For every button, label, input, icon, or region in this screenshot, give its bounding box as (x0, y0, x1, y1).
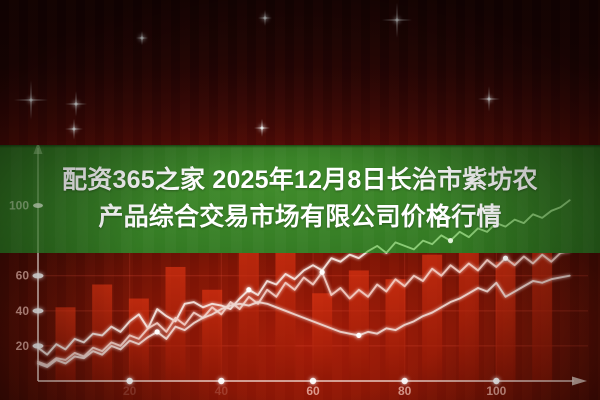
y-tick-label: 40 (16, 304, 30, 318)
title-line-2: 产品综合交易市场有限公司价格行情 (98, 200, 501, 236)
y-tick-label: 20 (16, 339, 30, 353)
title-line-1: 配资365之家 2025年12月8日长治市紫坊农 (62, 163, 538, 199)
x-tick-label: 20 (123, 384, 137, 398)
screenshot-root: 2040608010020406080100 100 配资365之家 2025年… (0, 0, 600, 400)
x-tick-label: 60 (306, 384, 320, 398)
x-tick-label: 80 (398, 384, 412, 398)
y-tick-label: 60 (16, 269, 30, 283)
title-banner: 100 配资365之家 2025年12月8日长治市紫坊农 产品综合交易市场有限公… (0, 145, 600, 253)
x-tick-label: 40 (215, 384, 229, 398)
x-tick-label: 100 (486, 384, 506, 398)
banner-text-block: 配资365之家 2025年12月8日长治市紫坊农 产品综合交易市场有限公司价格行… (0, 145, 600, 253)
